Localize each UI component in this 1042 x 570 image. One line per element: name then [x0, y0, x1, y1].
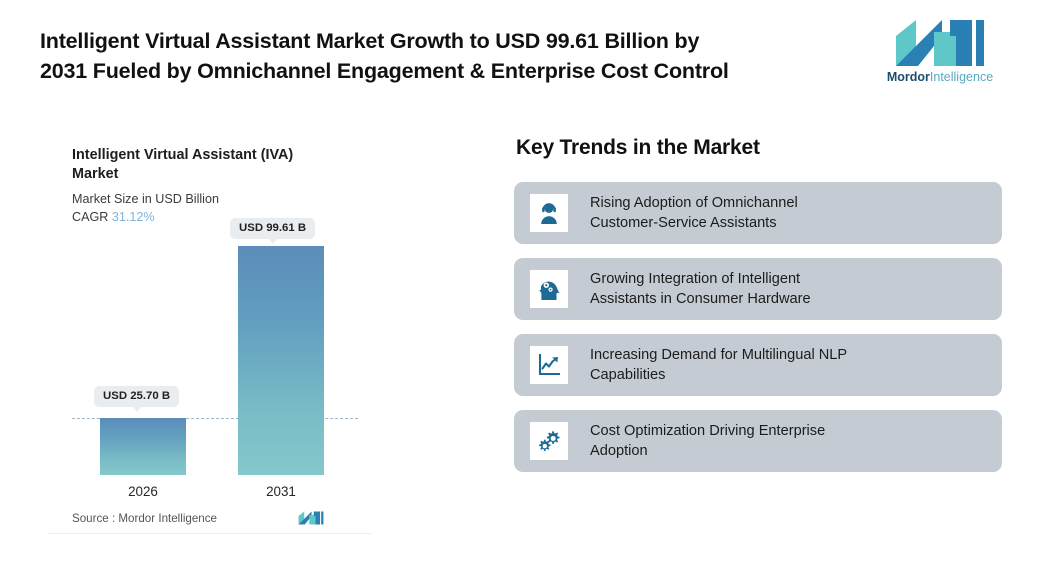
trend-card-cost-optimization[interactable]: Cost Optimization Driving Enterprise Ado…	[514, 410, 1002, 472]
trend-text-line-1: Cost Optimization Driving Enterprise	[590, 421, 825, 441]
head-with-gears-icon	[530, 270, 568, 308]
trend-card-text: Increasing Demand for Multilingual NLP C…	[590, 345, 847, 385]
cagr-value: 31.12%	[112, 210, 155, 224]
bar-2031	[238, 246, 324, 475]
trend-text-line-1: Increasing Demand for Multilingual NLP	[590, 345, 847, 365]
brand-logo: MordorIntelligence	[880, 20, 1000, 90]
page-title: Intelligent Virtual Assistant Market Gro…	[40, 26, 860, 86]
page-title-line-1: Intelligent Virtual Assistant Market Gro…	[40, 26, 860, 56]
trend-card-multilingual-nlp[interactable]: Increasing Demand for Multilingual NLP C…	[514, 334, 1002, 396]
chart-subtitle: Market Size in USD Billion	[72, 192, 219, 206]
brand-wordmark: MordorIntelligence	[880, 70, 1000, 84]
brand-name-secondary: Intelligence	[930, 70, 993, 84]
key-trends-panel: Key Trends in the Market Rising Adoption…	[514, 136, 1002, 486]
chart-plot-area: USD 25.70 B USD 99.61 B	[48, 228, 372, 478]
bar-label-2026: USD 25.70 B	[94, 386, 179, 407]
bar-2026	[100, 418, 186, 475]
trend-text-line-2: Adoption	[590, 441, 825, 461]
x-axis-label-2026: 2026	[100, 484, 186, 499]
trend-card-text: Rising Adoption of Omnichannel Customer-…	[590, 193, 798, 233]
bar-label-2031: USD 99.61 B	[230, 218, 315, 239]
chart-title: Intelligent Virtual Assistant (IVA) Mark…	[72, 146, 342, 184]
trend-card-text: Growing Integration of Intelligent Assis…	[590, 269, 811, 309]
trend-text-line-1: Growing Integration of Intelligent	[590, 269, 811, 289]
cagr-label: CAGR	[72, 210, 108, 224]
line-chart-up-icon	[530, 346, 568, 384]
key-trends-heading: Key Trends in the Market	[516, 136, 1002, 160]
iva-market-chart-card: Intelligent Virtual Assistant (IVA) Mark…	[48, 128, 372, 534]
chart-source: Source : Mordor Intelligence	[72, 512, 217, 525]
trend-card-text: Cost Optimization Driving Enterprise Ado…	[590, 421, 825, 461]
chart-cagr: CAGR 31.12%	[72, 210, 155, 224]
trend-text-line-2: Assistants in Consumer Hardware	[590, 289, 811, 309]
page-header: Intelligent Virtual Assistant Market Gro…	[0, 0, 1042, 110]
page-title-line-2: 2031 Fueled by Omnichannel Engagement & …	[40, 56, 860, 86]
trend-text-line-2: Customer-Service Assistants	[590, 213, 798, 233]
trend-card-omnichannel[interactable]: Rising Adoption of Omnichannel Customer-…	[514, 182, 1002, 244]
trend-text-line-2: Capabilities	[590, 365, 847, 385]
trend-text-line-1: Rising Adoption of Omnichannel	[590, 193, 798, 213]
source-mordor-logo-icon	[298, 510, 324, 526]
headset-agent-icon	[530, 194, 568, 232]
mordor-m-logo-icon	[894, 20, 986, 66]
brand-name-primary: Mordor	[887, 70, 930, 84]
two-gears-icon	[530, 422, 568, 460]
trend-card-consumer-hardware[interactable]: Growing Integration of Intelligent Assis…	[514, 258, 1002, 320]
x-axis-label-2031: 2031	[238, 484, 324, 499]
